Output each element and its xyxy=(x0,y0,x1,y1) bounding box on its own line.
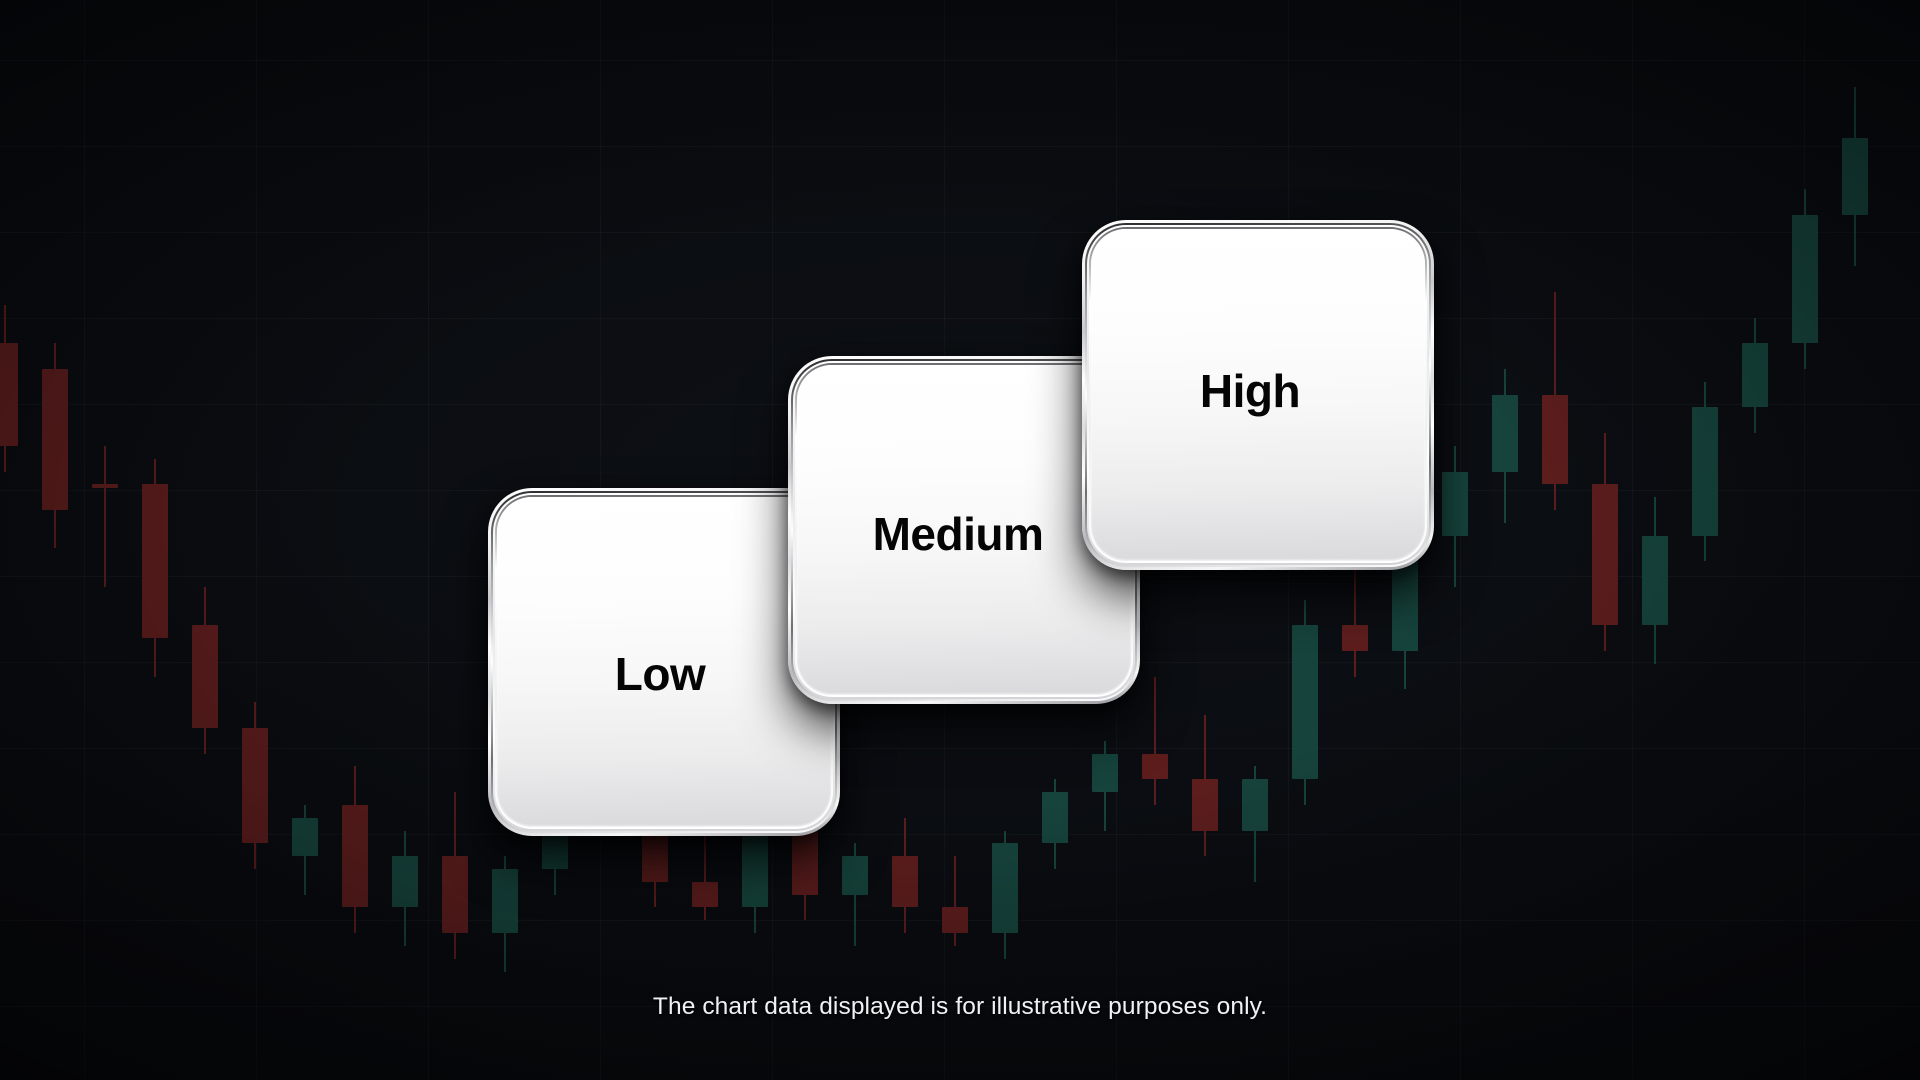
card-medium-label: Medium xyxy=(873,511,1044,557)
disclaimer-caption: The chart data displayed is for illustra… xyxy=(0,993,1920,1021)
card-low-label: Low xyxy=(615,651,705,697)
tier-card-group: Low Medium High xyxy=(0,0,1920,1080)
card-high[interactable]: High xyxy=(1082,220,1434,570)
illustration-stage: Low Medium High The chart data displayed… xyxy=(0,0,1920,1080)
card-high-label: High xyxy=(1200,368,1300,414)
